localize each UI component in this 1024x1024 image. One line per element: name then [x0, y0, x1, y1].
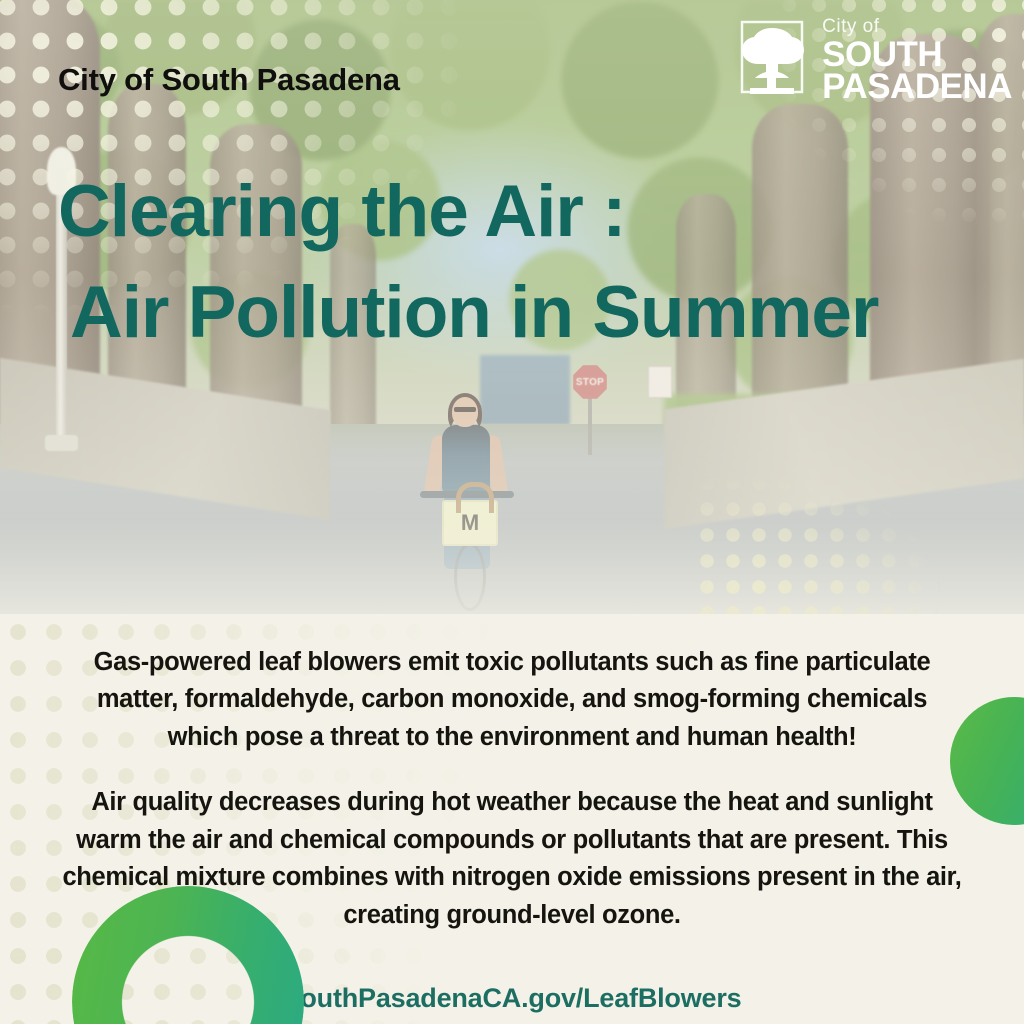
- page-title: Clearing the Air : Air Pollution in Summ…: [58, 162, 958, 363]
- halftone-dots-bottom-right: [694, 444, 1024, 614]
- kicker-text: City of South Pasadena: [58, 62, 400, 98]
- logo-pasadena: PASADENA: [822, 69, 1012, 104]
- headline-line-2: Air Pollution in Summer: [58, 263, 958, 364]
- logo-city-of: City of: [822, 17, 1012, 36]
- paragraph-1: Gas-powered leaf blowers emit toxic poll…: [62, 644, 962, 756]
- headline-line-1: Clearing the Air :: [58, 171, 625, 252]
- logo-wordmark: City of SOUTH PASADENA: [822, 17, 1012, 106]
- city-logo: City of SOUTH PASADENA: [738, 14, 1012, 108]
- tree-in-square-icon: [738, 18, 812, 104]
- poster-graphic: STOP M City of South Pasadena Clearing t…: [0, 0, 1024, 1024]
